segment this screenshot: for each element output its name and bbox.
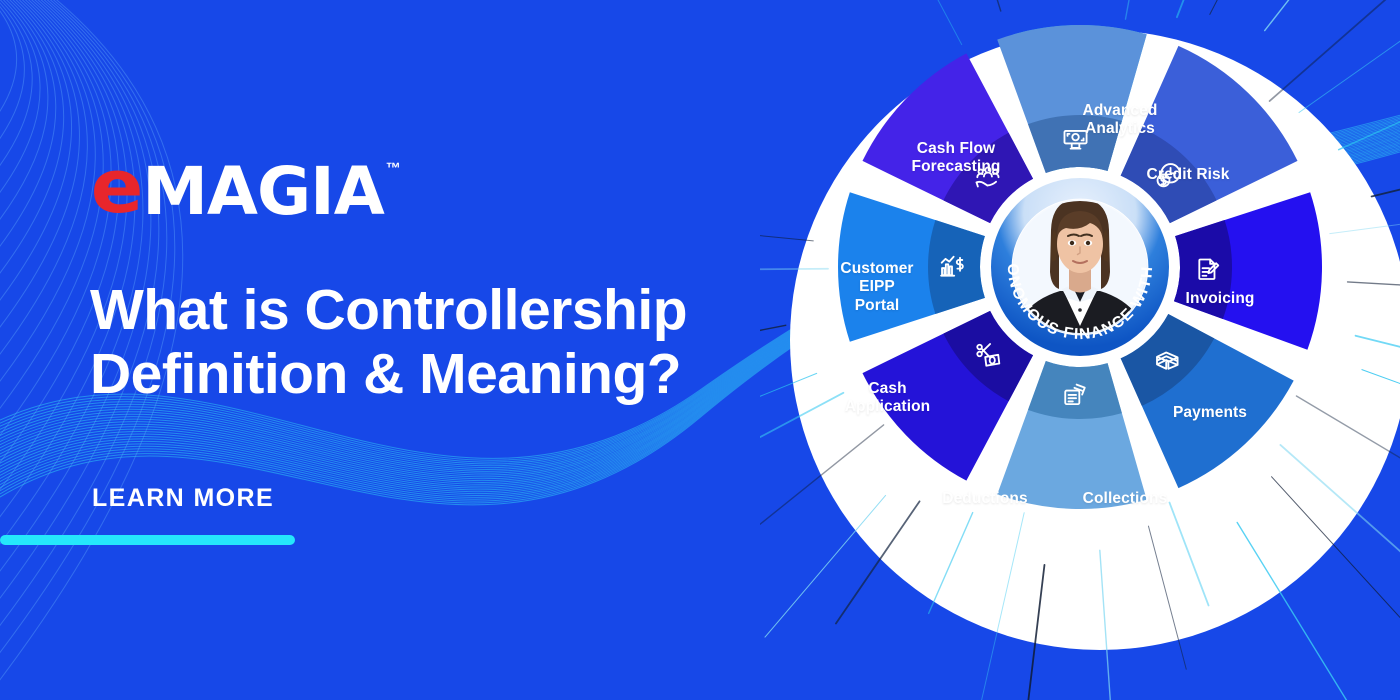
wheel-segments-svg: AUTONOMOUS FINANCE WITH GIA bbox=[760, 0, 1400, 700]
emagia-logo[interactable]: e MAGIA ™ bbox=[92, 152, 401, 226]
wheel-segment-inner-6 bbox=[928, 220, 985, 314]
wheel-segment-inner-2 bbox=[1174, 220, 1232, 319]
headline-line-2: Definition & Meaning? bbox=[90, 342, 750, 406]
learn-more-cta[interactable]: LEARN MORE bbox=[0, 484, 400, 545]
hero-left-content: e MAGIA ™ What is Controllership Definit… bbox=[0, 0, 800, 700]
autonomous-finance-wheel: AUTONOMOUS FINANCE WITH GIA AdvancedAnal… bbox=[760, 0, 1400, 700]
headline-line-1: What is Controllership bbox=[90, 278, 687, 342]
logo-e-letter: e bbox=[91, 152, 142, 222]
banner-stage: e MAGIA ™ What is Controllership Definit… bbox=[0, 0, 1400, 700]
trademark-symbol: ™ bbox=[386, 160, 401, 177]
learn-more-label[interactable]: LEARN MORE bbox=[92, 484, 400, 513]
logo-wordmark: MAGIA bbox=[142, 157, 384, 226]
page-title: What is Controllership Definition & Mean… bbox=[90, 278, 750, 407]
cta-underline-bar bbox=[0, 535, 295, 545]
